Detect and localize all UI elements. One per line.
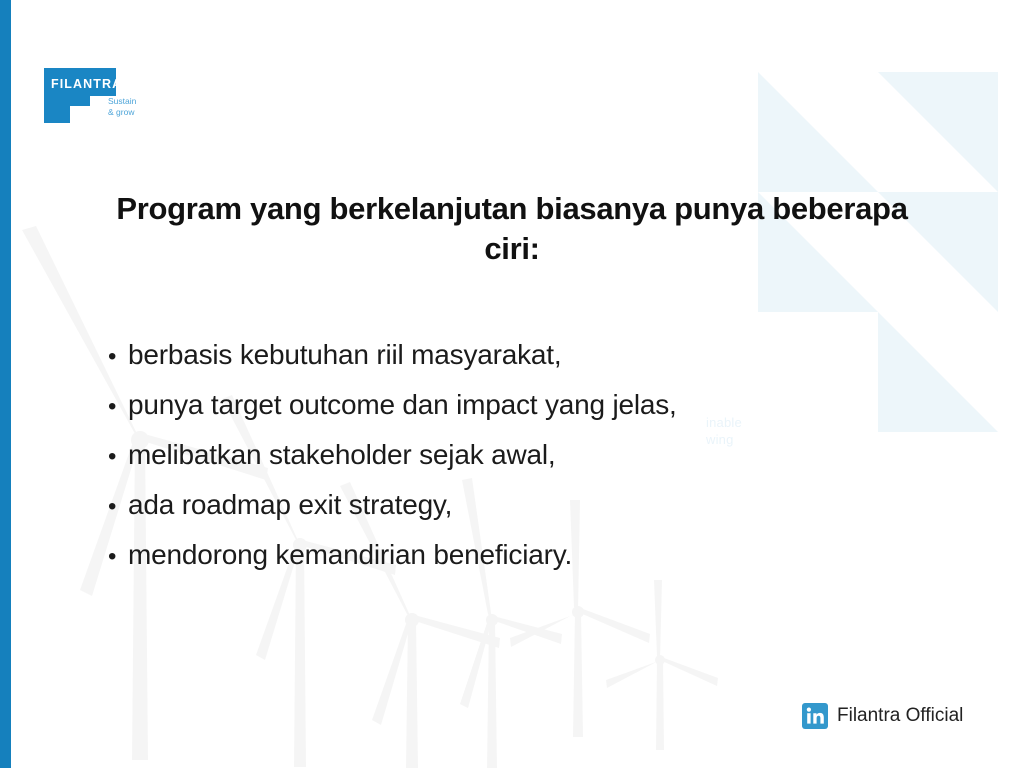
- bullet-list: • berbasis kebutuhan riil masyarakat, • …: [108, 330, 938, 580]
- list-item: • punya target outcome dan impact yang j…: [108, 380, 938, 430]
- bullet-text: mendorong kemandirian beneficiary.: [128, 530, 938, 580]
- list-item: • ada roadmap exit strategy,: [108, 480, 938, 530]
- list-item: • mendorong kemandirian beneficiary.: [108, 530, 938, 580]
- page-title: Program yang berkelanjutan biasanya puny…: [112, 189, 912, 269]
- triangle-tile: [758, 72, 878, 192]
- logo-wordmark: FILANTRA: [51, 77, 122, 91]
- slide-canvas: inable wing FILANTRA Sustain & grow Prog…: [0, 0, 1024, 768]
- bullet-marker: •: [108, 532, 128, 582]
- bullet-text: berbasis kebutuhan riil masyarakat,: [128, 330, 938, 380]
- left-accent-bar: [0, 0, 11, 768]
- linkedin-account-name: Filantra Official: [837, 705, 963, 727]
- filantra-logo: FILANTRA Sustain & grow: [44, 68, 154, 126]
- bullet-text: punya target outcome dan impact yang jel…: [128, 380, 938, 430]
- list-item: • berbasis kebutuhan riil masyarakat,: [108, 330, 938, 380]
- bullet-text: melibatkan stakeholder sejak awal,: [128, 430, 938, 480]
- linkedin-badge[interactable]: Filantra Official: [802, 703, 963, 729]
- triangle-tile: [878, 72, 998, 192]
- bullet-marker: •: [108, 382, 128, 432]
- bullet-marker: •: [108, 332, 128, 382]
- bullet-marker: •: [108, 432, 128, 482]
- bullet-text: ada roadmap exit strategy,: [128, 480, 938, 530]
- linkedin-icon[interactable]: [802, 703, 828, 729]
- logo-tagline: Sustain & grow: [108, 96, 136, 118]
- bullet-marker: •: [108, 482, 128, 532]
- list-item: • melibatkan stakeholder sejak awal,: [108, 430, 938, 480]
